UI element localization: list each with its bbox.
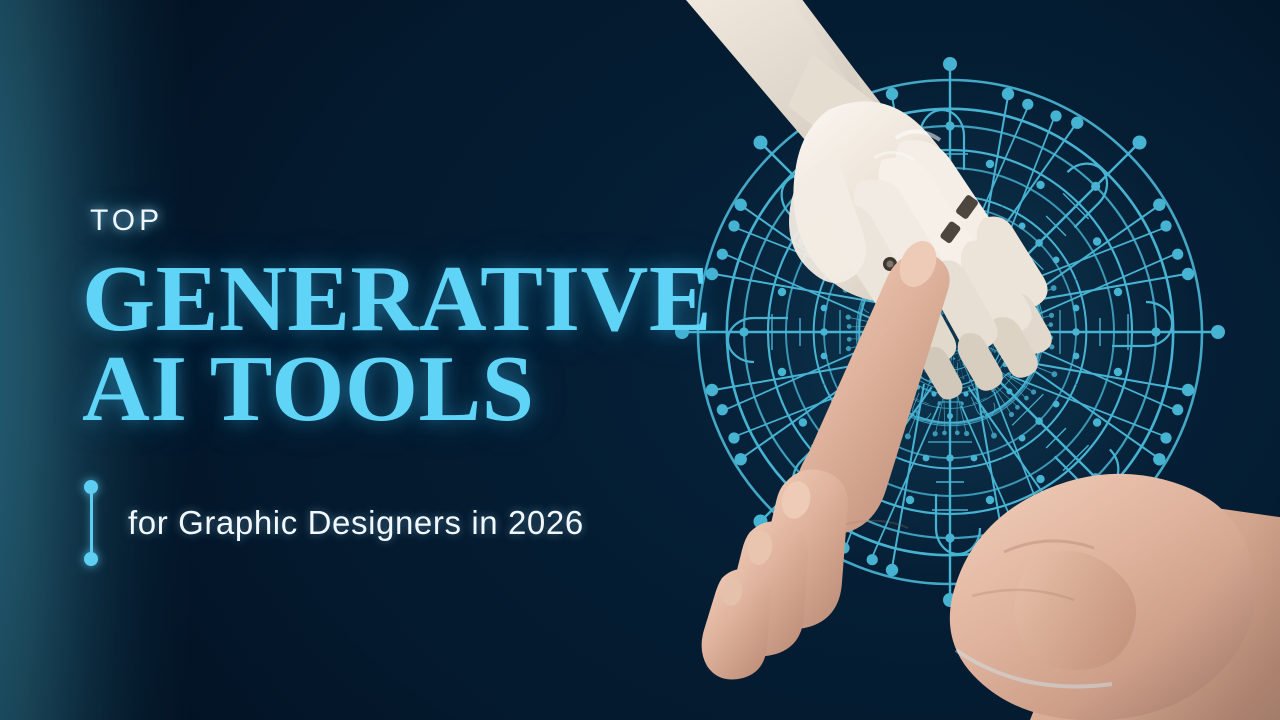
headline-line-1: GENERATIVE — [82, 247, 712, 351]
accent-dot-bottom-icon — [84, 552, 98, 566]
artwork-illustration — [600, 0, 1280, 720]
kicker-label: TOP — [90, 206, 682, 236]
accent-line-icon — [90, 487, 93, 559]
accent-bar-icon — [84, 480, 98, 566]
page-title: GENERATIVE AI TOOLS — [82, 254, 682, 434]
hands-illustration — [600, 0, 1280, 720]
subtitle-row: for Graphic Designers in 2026 — [84, 480, 682, 566]
poster-canvas: TOP GENERATIVE AI TOOLS for Graphic Desi… — [0, 0, 1280, 720]
headline-line-2: AI TOOLS — [82, 344, 682, 434]
headline-text-block: TOP GENERATIVE AI TOOLS for Graphic Desi… — [82, 206, 682, 566]
subtitle-text: for Graphic Designers in 2026 — [128, 504, 584, 542]
